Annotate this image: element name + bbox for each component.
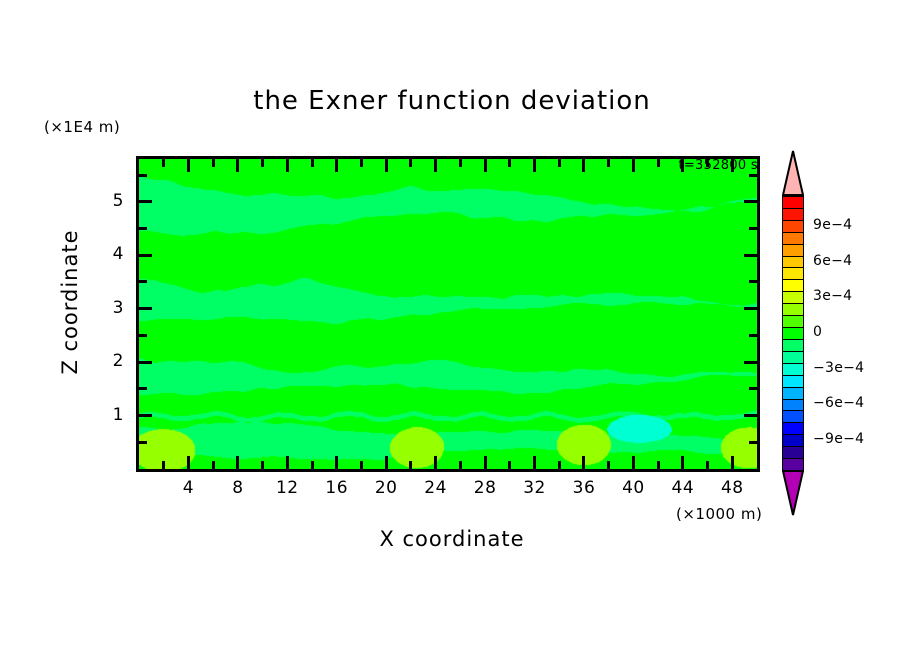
- x-tick-top: [311, 159, 314, 167]
- x-tick: [261, 461, 264, 469]
- x-tick: [311, 461, 314, 469]
- x-tick: [582, 456, 585, 469]
- x-tick: [409, 461, 412, 469]
- x-tick-top: [508, 159, 511, 167]
- y-axis-title: Z coordinate: [58, 202, 82, 402]
- x-tick: [607, 461, 610, 469]
- y-tick: [139, 174, 147, 177]
- y-tick: [139, 334, 147, 337]
- x-tick: [162, 461, 165, 469]
- x-tick: [484, 456, 487, 469]
- y-tick-right: [749, 280, 757, 283]
- x-tick: [335, 456, 338, 469]
- y-tick-right: [744, 254, 757, 257]
- y-tick: [139, 200, 152, 203]
- y-tick-right: [749, 227, 757, 230]
- x-tick-top: [558, 159, 561, 167]
- x-tick: [657, 461, 660, 469]
- y-tick-label: 2: [96, 351, 124, 371]
- y-tick-right: [744, 361, 757, 364]
- x-tick-top: [459, 159, 462, 167]
- x-tick-label: 40: [613, 478, 653, 498]
- y-tick-label: 4: [96, 244, 124, 264]
- y-tick: [139, 307, 152, 310]
- x-tick-top: [335, 159, 338, 172]
- timestamp-annotation: t=352800 s: [640, 158, 758, 173]
- x-axis-unit-label: (×1000 m): [676, 505, 762, 523]
- x-tick-top: [360, 159, 363, 167]
- y-tick: [139, 361, 152, 364]
- x-tick-label: 32: [515, 478, 555, 498]
- x-tick-label: 36: [564, 478, 604, 498]
- y-tick: [139, 387, 147, 390]
- x-tick: [508, 461, 511, 469]
- x-tick: [706, 461, 709, 469]
- x-tick-top: [212, 159, 215, 167]
- x-tick-label: 16: [317, 478, 357, 498]
- x-tick: [236, 456, 239, 469]
- x-tick-top: [484, 159, 487, 172]
- y-tick-label: 3: [96, 298, 124, 318]
- x-tick: [533, 456, 536, 469]
- colorbar-tick-label: 0: [813, 324, 822, 340]
- x-tick-label: 44: [663, 478, 703, 498]
- y-tick-right: [749, 387, 757, 390]
- x-tick-top: [286, 159, 289, 172]
- x-tick-top: [582, 159, 585, 172]
- colorbar-tick-label: −3e−4: [813, 360, 864, 376]
- y-tick-right: [744, 200, 757, 203]
- y-tick-label: 1: [96, 405, 124, 425]
- x-tick-label: 48: [712, 478, 752, 498]
- y-tick-label: 5: [96, 191, 124, 211]
- x-tick-top: [409, 159, 412, 167]
- colorbar-under-arrow: [782, 470, 804, 516]
- x-tick-top: [261, 159, 264, 167]
- x-tick: [731, 456, 734, 469]
- contour-field: [139, 159, 757, 469]
- x-tick-label: 28: [465, 478, 505, 498]
- x-tick-top: [187, 159, 190, 172]
- colorbar-tick-label: 9e−4: [813, 217, 852, 233]
- y-tick-right: [744, 307, 757, 310]
- x-tick-top: [533, 159, 536, 172]
- x-tick: [434, 456, 437, 469]
- x-tick: [187, 456, 190, 469]
- colorbar-tick-label: 3e−4: [813, 288, 852, 304]
- y-tick: [139, 227, 147, 230]
- x-tick-top: [434, 159, 437, 172]
- colorbar-tick-label: −9e−4: [813, 431, 864, 447]
- y-tick-right: [749, 334, 757, 337]
- y-tick-right: [749, 441, 757, 444]
- y-tick-right: [744, 414, 757, 417]
- colorbar-over-arrow: [782, 150, 804, 196]
- x-tick: [385, 456, 388, 469]
- x-tick: [360, 461, 363, 469]
- x-tick: [681, 456, 684, 469]
- x-tick-label: 20: [366, 478, 406, 498]
- x-tick: [212, 461, 215, 469]
- x-tick-label: 8: [218, 478, 258, 498]
- y-tick-right: [749, 174, 757, 177]
- y-tick: [139, 414, 152, 417]
- x-tick-label: 12: [267, 478, 307, 498]
- x-tick: [286, 456, 289, 469]
- x-tick: [558, 461, 561, 469]
- colorbar-tick-label: 6e−4: [813, 253, 852, 269]
- x-tick-label: 24: [416, 478, 456, 498]
- page-title: the Exner function deviation: [0, 86, 904, 116]
- contour-plot-area: [136, 156, 760, 472]
- x-tick-top: [385, 159, 388, 172]
- x-tick: [632, 456, 635, 469]
- y-tick: [139, 254, 152, 257]
- x-tick: [459, 461, 462, 469]
- x-tick-top: [162, 159, 165, 167]
- x-tick-top: [236, 159, 239, 172]
- x-tick-top: [607, 159, 610, 167]
- y-tick: [139, 441, 147, 444]
- x-tick-label: 4: [168, 478, 208, 498]
- colorbar: 9e−46e−43e−40−3e−4−6e−4−9e−4: [777, 196, 811, 516]
- y-axis-unit-label: (×1E4 m): [44, 118, 120, 136]
- y-tick: [139, 280, 147, 283]
- x-tick-top: [632, 159, 635, 172]
- colorbar-tick-label: −6e−4: [813, 395, 864, 411]
- x-axis-title: X coordinate: [0, 527, 904, 551]
